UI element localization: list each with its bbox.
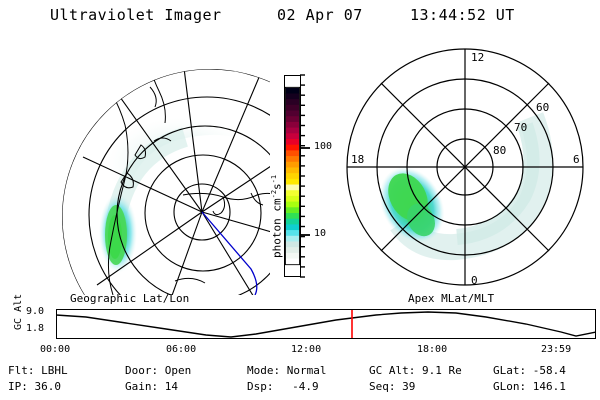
status-glat-value: -58.4 [533,364,566,377]
orbit-xtick-4: 23:59 [541,344,571,355]
mlt-spokes [347,49,583,285]
colorbar-swatch [286,99,299,105]
colorbar-swatch [286,111,299,117]
status-flt-value: LBHL [41,364,68,377]
uvi-display: Ultraviolet Imager 02 Apr 07 13:44:52 UT [0,0,600,400]
orbit-xtick-3: 18:00 [417,344,447,355]
status-ip-value: 36.0 [35,380,62,393]
colorbar-swatch [286,122,299,128]
status-dsp-value: -4.9 [292,380,319,393]
orbit-xtick-0: 00:00 [40,344,70,355]
status-glat-key: GLat: [493,364,526,377]
colorbar-swatch [286,145,299,151]
colorbar-axis-exp1: -2 [270,190,278,198]
aurora-emission-right [367,117,540,254]
status-dsp-key: Dsp: [247,380,274,393]
colorbar-swatch [286,133,299,139]
status-mode-value: Normal [287,364,327,377]
geographic-polar-plot [55,45,270,295]
mlt-label-0: 0 [471,274,478,287]
status-gain-value: 14 [165,380,178,393]
colorbar-swatch [286,207,299,213]
colorbar-swatch [286,116,299,122]
colorbar-swatch [286,185,299,191]
orbit-altitude-trace [56,312,596,337]
colorbar-swatch [286,156,299,162]
colorbar-swatch [286,224,299,230]
status-seq-key: Seq: [369,380,396,393]
colorbar [284,75,301,277]
colorbar-axis-exp2: -1 [270,175,278,183]
status-ip-key: IP: [8,380,28,393]
mlt-label-12: 12 [471,51,484,64]
colorbar-tick-label-100: 100 [314,141,332,152]
status-mode-key: Mode: [247,364,280,377]
mlt-polar-plot: 12 18 6 0 60 70 80 [335,45,595,295]
status-gcalt-key: GC Alt: [369,364,415,377]
colorbar-tick-label-10: 10 [314,228,326,239]
header-time: 13:44:52 UT [410,6,515,24]
right-panel-title: Apex MLat/MLT [408,292,494,305]
orbit-y-label-alt: Alt [13,294,24,312]
colorbar-swatch [286,247,299,253]
colorbar-swatch [286,150,299,156]
colorbar-axis-mid: s [271,183,284,190]
colorbar-swatch [286,162,299,168]
orbit-altitude-plot[interactable] [56,309,596,339]
colorbar-swatch [286,105,299,111]
header-date: 02 Apr 07 [277,6,363,24]
colorbar-swatch [286,219,299,225]
orbit-ytick-high: 9.0 [26,306,44,317]
colorbar-swatch [286,190,299,196]
mlat-label-60: 60 [536,101,549,114]
colorbar-swatch [286,179,299,185]
status-gcalt-value: 9.1 Re [422,364,462,377]
colorbar-swatch [286,139,299,145]
colorbar-ticks [300,70,314,282]
colorbar-swatch [286,167,299,173]
status-seq-value: 39 [402,380,415,393]
status-glon-key: GLon: [493,380,526,393]
colorbar-swatch [286,128,299,134]
status-door-value: Open [165,364,192,377]
colorbar-swatch [286,230,299,236]
colorbar-swatch [286,93,299,99]
header-instrument: Ultraviolet Imager [50,6,222,24]
colorbar-swatch [286,236,299,242]
mlat-label-80: 80 [493,144,506,157]
orbit-xtick-2: 12:00 [291,344,321,355]
colorbar-swatch [286,173,299,179]
orbit-y-label-gc: GC [13,318,24,330]
orbit-ytick-low: 1.8 [26,323,44,334]
orbit-xtick-1: 06:00 [166,344,196,355]
mlat-label-70: 70 [514,121,527,134]
latitude-grid-left [62,69,270,295]
colorbar-axis-label-text: photon cm [271,198,284,258]
status-gain-key: Gain: [125,380,158,393]
status-door-key: Door: [125,364,158,377]
colorbar-swatch [286,241,299,247]
colorbar-swatch [286,213,299,219]
status-flt-key: Flt: [8,364,35,377]
mlt-label-18: 18 [351,153,364,166]
colorbar-swatch [286,202,299,208]
colorbar-swatch [286,196,299,202]
colorbar-swatch [286,88,299,94]
left-panel-title: Geographic Lat/Lon [70,292,189,305]
status-glon-value: 146.1 [533,380,566,393]
mlt-label-6: 6 [573,153,580,166]
